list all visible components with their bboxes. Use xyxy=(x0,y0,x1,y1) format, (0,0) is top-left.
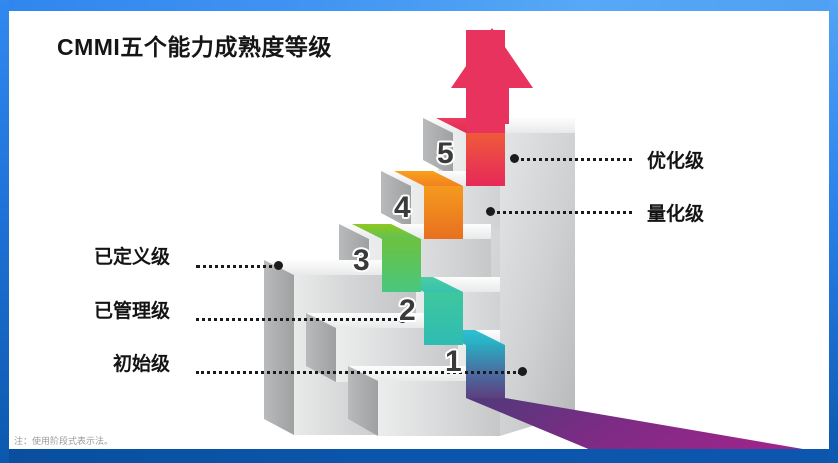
leader-line-2 xyxy=(196,318,403,321)
level-label-2: 已管理级 xyxy=(94,296,170,323)
leader-dot-3 xyxy=(274,261,283,270)
leader-dot-5 xyxy=(510,154,519,163)
frame-border-top xyxy=(0,0,838,11)
leader-line-4 xyxy=(490,211,632,214)
footnote: 注：使用阶段式表示法。 xyxy=(14,434,113,447)
slide-canvas: 5 4 3 2 1 优化级 量化级 已定义级 已管理级 初始级 CMMI五个能力… xyxy=(0,0,838,463)
level-label-1: 初始级 xyxy=(113,349,170,376)
page-title: CMMI五个能力成熟度等级 xyxy=(57,28,332,62)
frame-border-left xyxy=(0,0,9,463)
frame-border-bottom xyxy=(0,449,838,463)
leader-line-1 xyxy=(196,371,521,374)
level-label-5: 优化级 xyxy=(647,146,704,173)
frame-border-right xyxy=(829,0,838,463)
step-number-1: 1 xyxy=(445,345,462,379)
upward-arrow-icon xyxy=(451,28,533,124)
leader-dot-1 xyxy=(518,367,527,376)
level-label-4: 量化级 xyxy=(647,199,704,226)
cmmi-staircase-diagram xyxy=(0,0,838,463)
step-number-3: 3 xyxy=(353,244,370,278)
level-label-3: 已定义级 xyxy=(94,242,170,269)
step-number-4: 4 xyxy=(394,191,411,225)
step-number-5: 5 xyxy=(437,137,454,171)
leader-line-3 xyxy=(196,265,280,268)
step-number-2: 2 xyxy=(399,294,416,328)
leader-dot-4 xyxy=(486,207,495,216)
leader-line-5 xyxy=(514,158,632,161)
